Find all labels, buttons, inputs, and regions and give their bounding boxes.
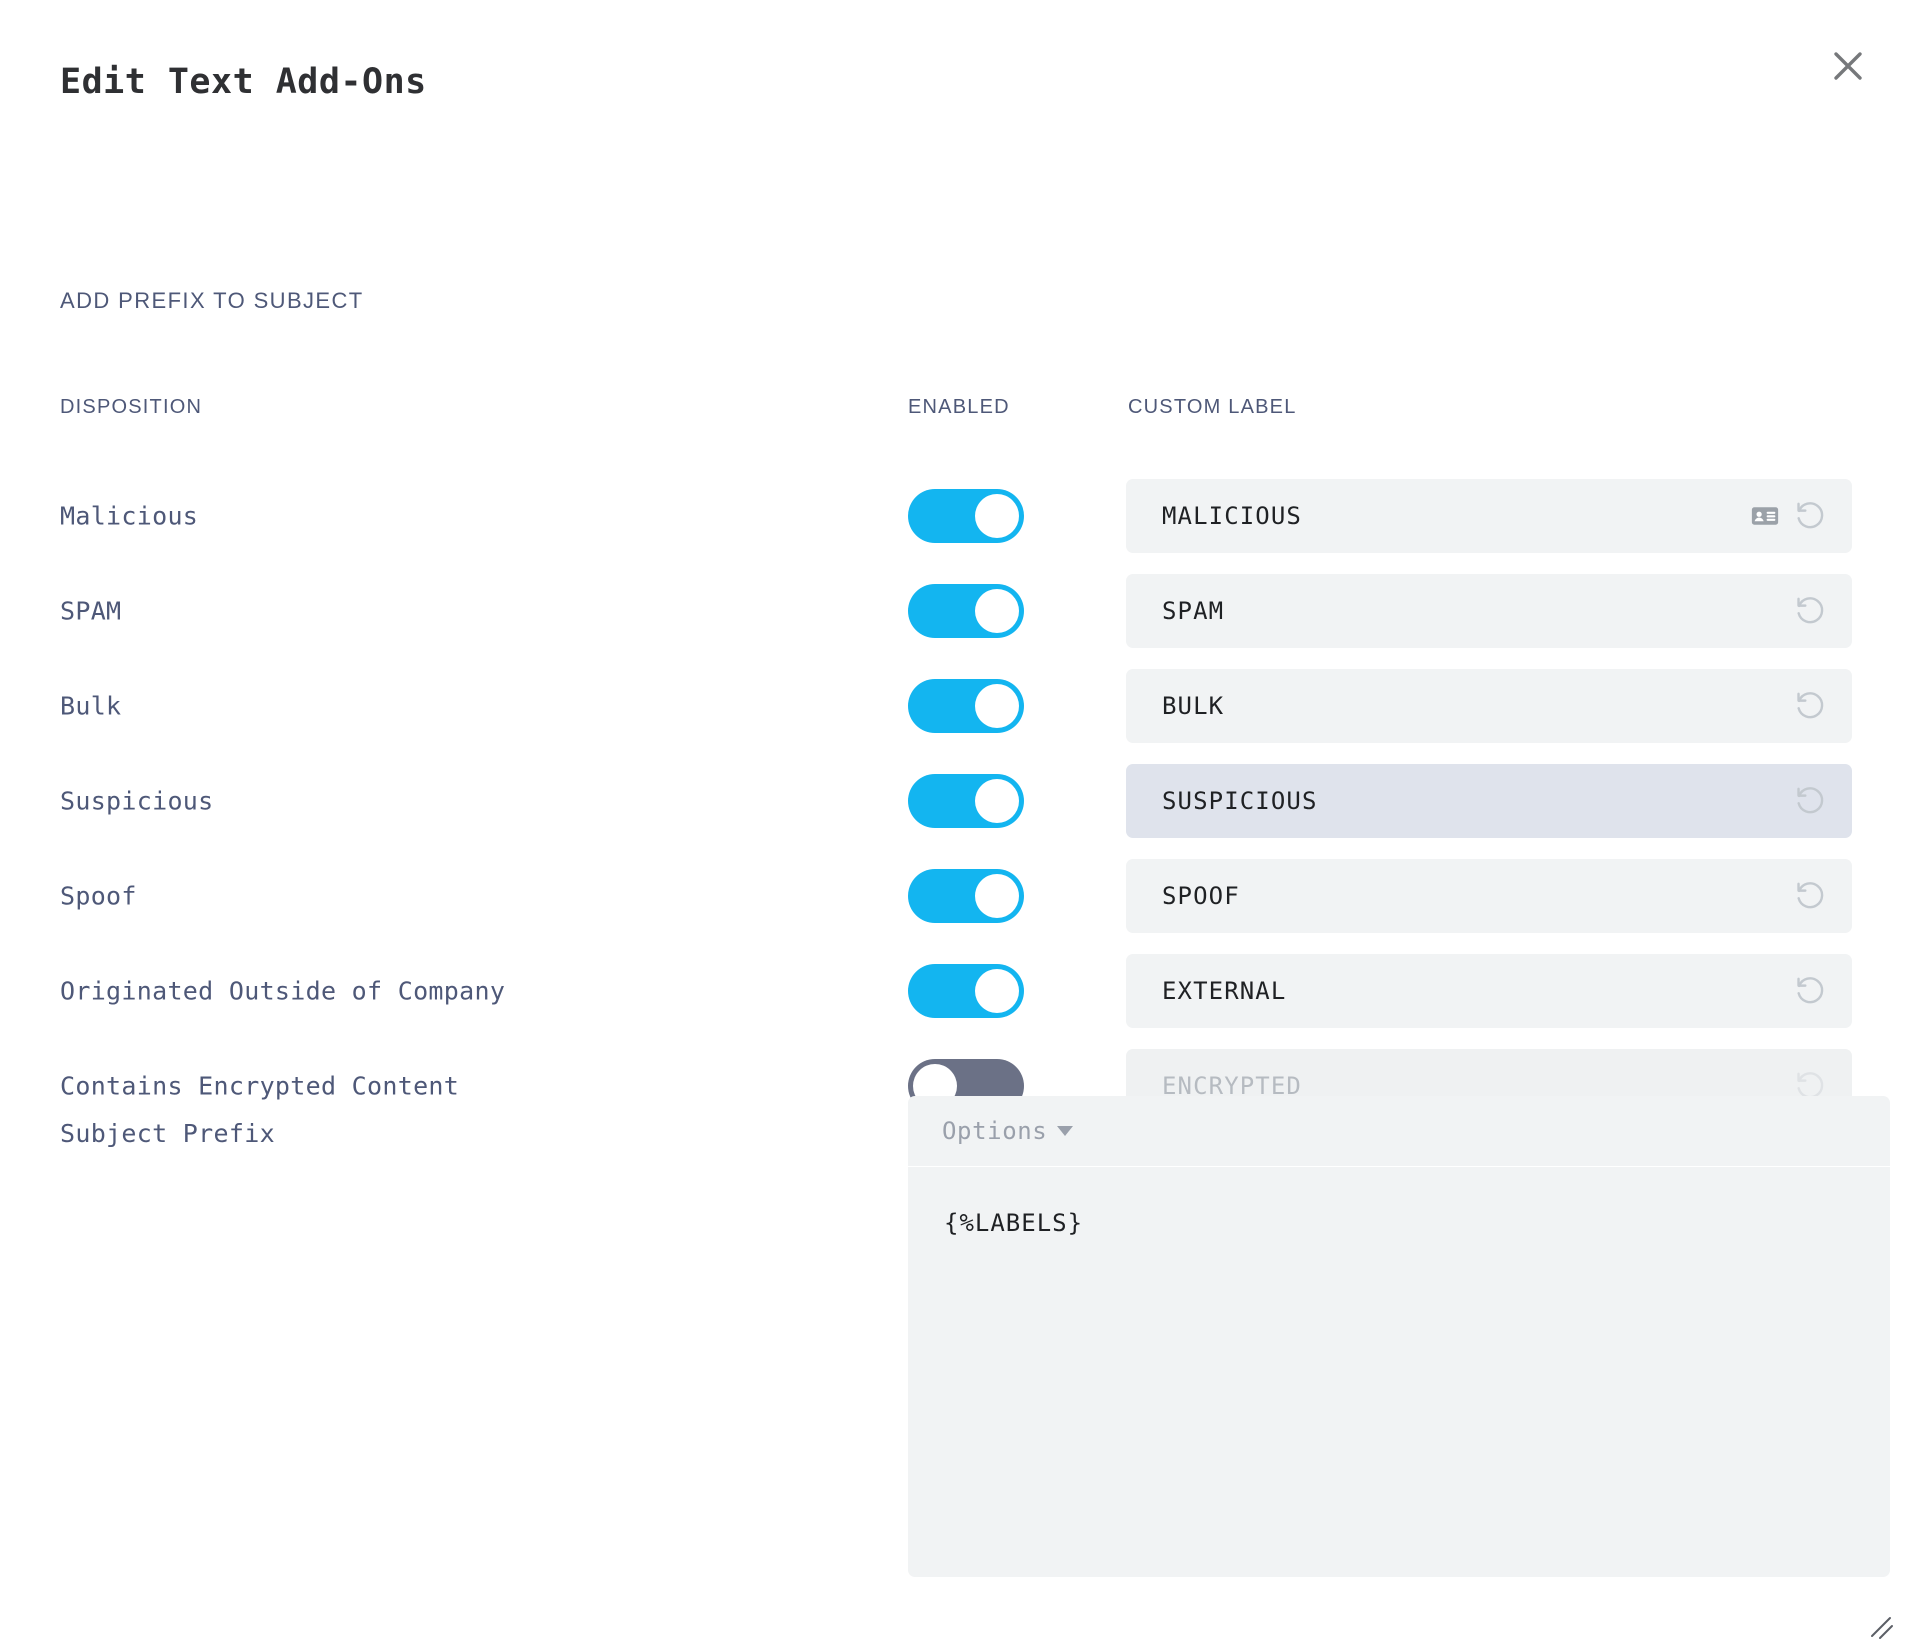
enabled-toggle[interactable] (908, 774, 1024, 828)
subject-prefix-label: Subject Prefix (60, 1119, 275, 1148)
custom-label-field[interactable]: SUSPICIOUS (1126, 764, 1852, 838)
toggle-knob (975, 684, 1019, 728)
field-action-icons (1794, 689, 1828, 723)
options-dropdown-button[interactable]: Options (942, 1117, 1073, 1145)
reset-icon[interactable] (1794, 879, 1828, 913)
toggle-knob (975, 779, 1019, 823)
custom-label-field[interactable]: MALICIOUS (1126, 479, 1852, 553)
custom-label-value: EXTERNAL (1162, 977, 1286, 1005)
toggle-knob (975, 494, 1019, 538)
custom-label-field[interactable]: EXTERNAL (1126, 954, 1852, 1028)
disposition-label: Bulk (60, 692, 121, 721)
subject-prefix-textarea[interactable] (908, 1167, 1890, 1577)
disposition-label: Contains Encrypted Content (60, 1072, 459, 1101)
field-action-icons (1794, 974, 1828, 1008)
field-action-icons (1794, 879, 1828, 913)
toggle-knob (975, 874, 1019, 918)
options-dropdown-label: Options (942, 1117, 1047, 1145)
custom-label-value: BULK (1162, 692, 1224, 720)
custom-label-field[interactable]: SPOOF (1126, 859, 1852, 933)
enabled-toggle[interactable] (908, 869, 1024, 923)
table-row: BulkBULK (0, 660, 1908, 752)
custom-label-value: MALICIOUS (1162, 502, 1302, 530)
enabled-toggle[interactable] (908, 489, 1024, 543)
table-row: SpoofSPOOF (0, 850, 1908, 942)
toggle-knob (975, 969, 1019, 1013)
reset-icon[interactable] (1794, 499, 1828, 533)
id-card-icon[interactable] (1748, 499, 1782, 533)
custom-label-value: SPOOF (1162, 882, 1240, 910)
reset-icon[interactable] (1794, 784, 1828, 818)
chevron-down-icon (1057, 1126, 1073, 1136)
table-row: SPAMSPAM (0, 565, 1908, 657)
table-row: Originated Outside of CompanyEXTERNAL (0, 945, 1908, 1037)
enabled-toggle[interactable] (908, 679, 1024, 733)
disposition-label: Malicious (60, 502, 198, 531)
custom-label-field[interactable]: SPAM (1126, 574, 1852, 648)
table-row: MaliciousMALICIOUS (0, 470, 1908, 562)
reset-icon[interactable] (1794, 594, 1828, 628)
custom-label-value: SUSPICIOUS (1162, 787, 1318, 815)
reset-icon[interactable] (1794, 974, 1828, 1008)
disposition-label: Suspicious (60, 787, 214, 816)
table-row: SuspiciousSUSPICIOUS (0, 755, 1908, 847)
field-action-icons (1794, 784, 1828, 818)
reset-icon[interactable] (1794, 689, 1828, 723)
enabled-toggle[interactable] (908, 964, 1024, 1018)
custom-label-field[interactable]: BULK (1126, 669, 1852, 743)
field-action-icons (1748, 499, 1828, 533)
custom-label-value: SPAM (1162, 597, 1224, 625)
enabled-toggle[interactable] (908, 584, 1024, 638)
disposition-label: Originated Outside of Company (60, 977, 505, 1006)
toggle-knob (975, 589, 1019, 633)
disposition-label: Spoof (60, 882, 137, 911)
edit-text-add-ons-dialog: Edit Text Add-Ons ADD PREFIX TO SUBJECT … (0, 0, 1908, 1650)
field-action-icons (1794, 594, 1828, 628)
disposition-label: SPAM (60, 597, 121, 626)
subject-prefix-toolbar: Options (908, 1096, 1890, 1166)
